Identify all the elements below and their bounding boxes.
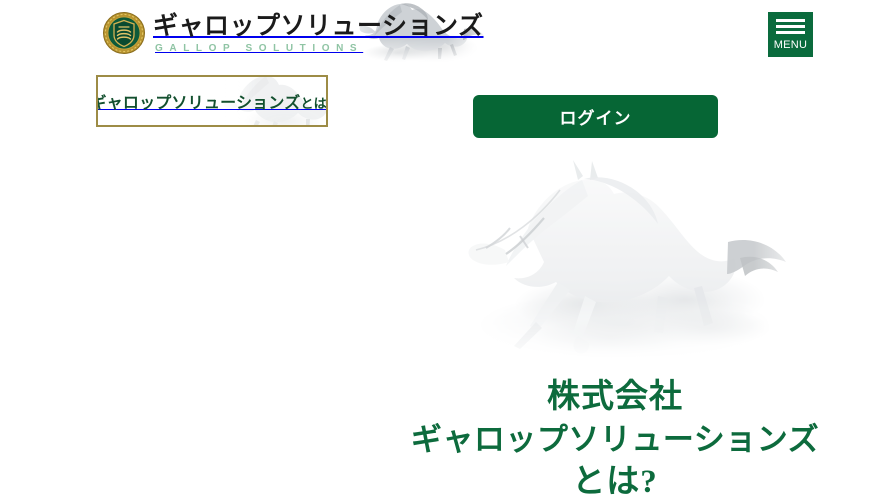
nav-tab-label-suffix: とは? [300, 96, 328, 111]
nav-tab-about[interactable]: ギャロップソリューションズとは? [96, 75, 328, 127]
page-title-line-2: ギャロップソリューションズ [400, 420, 830, 461]
page-title: 株式会社 ギャロップソリューションズ とは? [400, 376, 830, 504]
brand-name-en: GALLOP SOLUTIONS [153, 44, 484, 54]
brand-name-jp: ギャロップソリューションズ [153, 13, 484, 41]
hamburger-icon-bar-2 [776, 25, 805, 28]
hamburger-icon-bar-1 [776, 19, 805, 22]
hero-horse-image [410, 150, 810, 365]
shield-emblem-icon [103, 12, 145, 54]
menu-button[interactable]: MENU [768, 12, 813, 57]
page-title-line-1: 株式会社 [400, 376, 830, 420]
page-title-line-3: とは? [400, 461, 830, 504]
brand-logo[interactable]: ギャロップソリューションズ GALLOP SOLUTIONS [103, 9, 484, 57]
menu-button-label: MENU [774, 40, 808, 51]
hero-section: 株式会社 ギャロップソリューションズ とは? [400, 150, 830, 500]
login-button[interactable]: ログイン [473, 95, 718, 138]
nav-tab-label-main: ギャロップソリューションズ [96, 95, 300, 112]
site-header: ギャロップソリューションズ GALLOP SOLUTIONS MENU [0, 0, 870, 72]
hamburger-icon-bar-3 [776, 31, 805, 34]
nav-tab-label: ギャロップソリューションズとは? [96, 89, 328, 113]
page-root: ギャロップソリューションズ GALLOP SOLUTIONS MENU [0, 0, 870, 500]
